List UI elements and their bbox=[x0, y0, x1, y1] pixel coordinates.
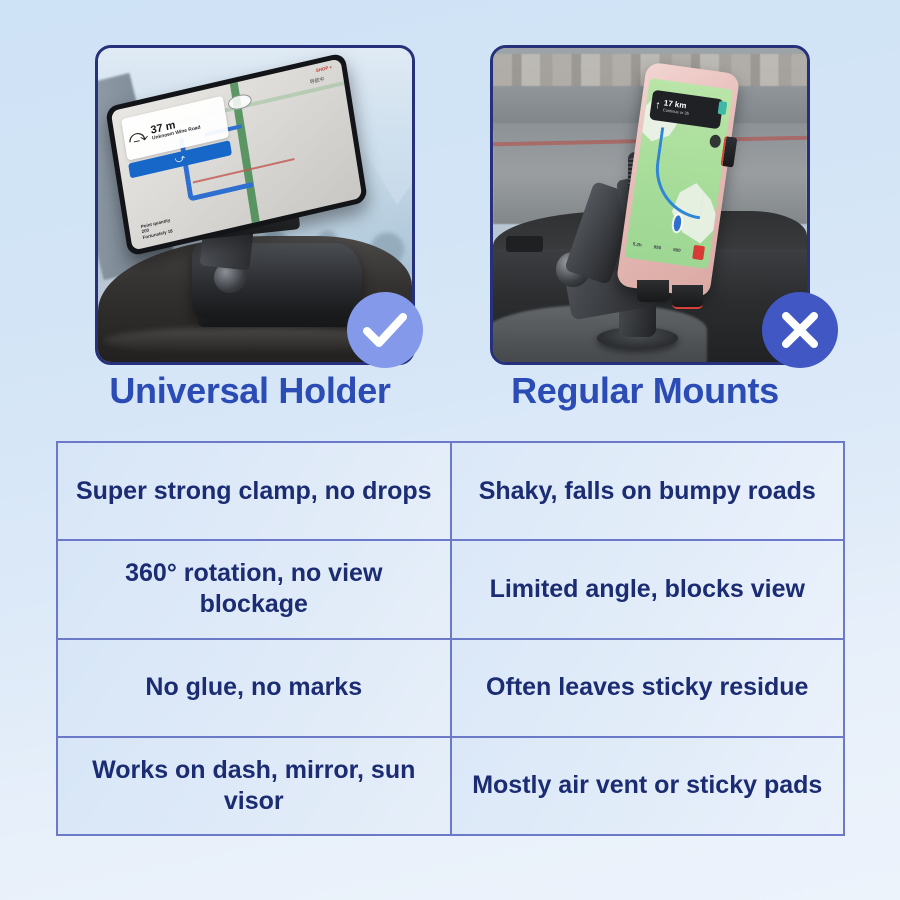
nav-stat-2: 950 bbox=[654, 244, 662, 250]
close-icon bbox=[762, 292, 838, 368]
cell-universal: Works on dash, mirror, sun visor bbox=[58, 738, 452, 834]
infographic-canvas: SHOP + 导航中 ⤼ 37 m Unknown Wine Road ⤻ Po… bbox=[0, 0, 900, 900]
check-badge bbox=[347, 292, 423, 368]
table-row: No glue, no marksOften leaves sticky res… bbox=[58, 640, 843, 738]
regular-mount-scene: ↑ 17 km Continue or 3b 5.2h 950 900 bbox=[493, 48, 807, 362]
turn-arrow-icon: ⤼ bbox=[127, 126, 149, 147]
cell-regular: Mostly air vent or sticky pads bbox=[452, 738, 844, 834]
cell-universal: No glue, no marks bbox=[58, 640, 452, 736]
cell-regular: Shaky, falls on bumpy roads bbox=[452, 443, 844, 539]
map-round-button bbox=[709, 134, 722, 149]
check-icon bbox=[347, 292, 423, 368]
mount-bottom-grip-left bbox=[637, 280, 668, 302]
nav-stat-1: 5.2h bbox=[633, 241, 643, 248]
nav-bottom-info: Point quantity 200 Fortunately 18 bbox=[140, 218, 173, 242]
table-row: Super strong clamp, no dropsShaky, falls… bbox=[58, 443, 843, 541]
cell-universal: 360° rotation, no view blockage bbox=[58, 541, 452, 637]
nav-end-button bbox=[692, 245, 705, 260]
cell-regular: Often leaves sticky residue bbox=[452, 640, 844, 736]
nav-stat-3: 900 bbox=[673, 246, 681, 252]
nav-corner-badge-icon bbox=[718, 101, 728, 115]
column-heading-regular: Regular Mounts bbox=[450, 370, 840, 412]
column-heading-universal: Universal Holder bbox=[55, 370, 445, 412]
mount-bottom-grip-right bbox=[672, 285, 703, 309]
comparison-table: Super strong clamp, no dropsShaky, falls… bbox=[56, 441, 845, 836]
cell-universal: Super strong clamp, no drops bbox=[58, 443, 452, 539]
cell-regular: Limited angle, blocks view bbox=[452, 541, 844, 637]
table-row: Works on dash, mirror, sun visorMostly a… bbox=[58, 738, 843, 834]
phone-status-text: SHOP + bbox=[315, 65, 332, 74]
straight-arrow-icon: ↑ bbox=[654, 99, 661, 111]
table-row: 360° rotation, no view blockageLimited a… bbox=[58, 541, 843, 639]
air-vent bbox=[506, 236, 544, 252]
x-badge bbox=[762, 292, 838, 368]
